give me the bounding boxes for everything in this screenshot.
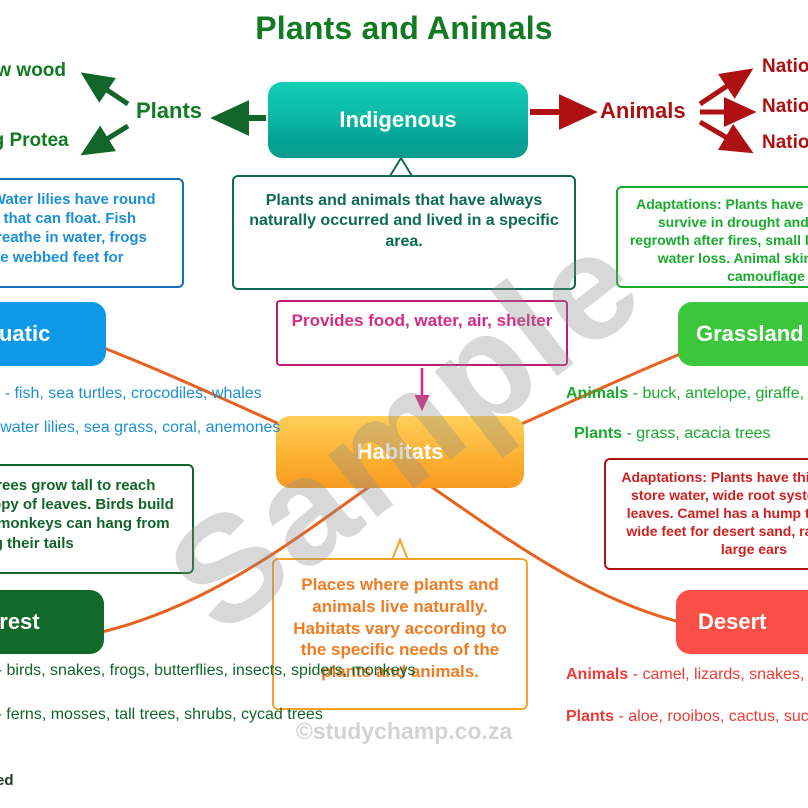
branch-label-plants[interactable]: Plants: [136, 98, 202, 124]
indigenous-definition-box: Plants and animals that have always natu…: [232, 175, 576, 290]
grassland-plants-sep: -: [626, 425, 636, 442]
aquatic-plants-list: water lilies, sea grass, coral, anemones: [0, 419, 280, 436]
animal-example-1: National animal: [762, 56, 808, 78]
node-desert-label: Desert: [698, 609, 766, 635]
node-indigenous[interactable]: Indigenous: [268, 82, 528, 158]
plant-example-kingprotea: King Protea: [0, 130, 69, 152]
aquatic-plants-line: Plants - water lilies, sea grass, coral,…: [0, 419, 280, 437]
aquatic-adaptations-text: Water lilies have round and flat leaves …: [0, 191, 156, 285]
provides-text: Provides food, water, air, shelter: [292, 311, 553, 330]
aquatic-adaptations-box: Adaptations: Water lilies have round and…: [0, 178, 184, 288]
animal-example-2: National bird: [762, 96, 808, 118]
aquatic-animals-list: fish, sea turtles, crocodiles, whales: [14, 385, 261, 402]
node-habitats[interactable]: Habitats: [276, 416, 524, 488]
grassland-plants-list: grass, acacia trees: [636, 425, 770, 442]
desert-animals-list: camel, lizards, snakes, scorpions: [642, 666, 808, 683]
grassland-adaptations-label: Adaptations:: [636, 196, 722, 212]
forest-animals-line: Animals - birds, snakes, frogs, butterfl…: [0, 662, 416, 680]
copyright-watermark: ©studychamp.co.za: [0, 718, 808, 745]
node-aquatic-label: Aquatic: [0, 321, 50, 347]
grassland-adaptations-box: Adaptations: Plants have deep roots to s…: [616, 186, 808, 288]
provides-box: Provides food, water, air, shelter: [276, 300, 568, 366]
node-grassland-label: Grassland: [696, 321, 804, 347]
node-indigenous-label: Indigenous: [339, 107, 456, 133]
node-forest[interactable]: Forest: [0, 590, 104, 654]
plant-example-yellowwood: Yellow wood: [0, 60, 66, 82]
grassland-animals-line: Animals - buck, antelope, giraffe, zebra: [566, 385, 808, 403]
page-title: Plants and Animals: [0, 10, 808, 47]
node-habitats-label: Habitats: [357, 439, 444, 465]
branch-label-animals[interactable]: Animals: [600, 98, 686, 124]
grassland-animals-list: buck, antelope, giraffe, zebra: [642, 385, 808, 402]
desert-animals-line: Animals - camel, lizards, snakes, scorpi…: [566, 666, 808, 684]
aquatic-animals-line: Animals - fish, sea turtles, crocodiles,…: [0, 385, 262, 403]
indigenous-definition-text: Plants and animals that have always natu…: [249, 192, 558, 250]
desert-animals-label: Animals: [566, 666, 628, 683]
desert-adaptations-label: Adaptations:: [621, 469, 707, 485]
grassland-animals-label: Animals: [566, 385, 628, 402]
node-aquatic[interactable]: Aquatic: [0, 302, 106, 366]
grassland-plants-label: Plants: [574, 425, 622, 442]
forest-animals-list: birds, snakes, frogs, butterflies, insec…: [6, 662, 415, 679]
forest-adaptations-text: Trees grow tall to reach above the canop…: [0, 477, 174, 552]
habitats-definition-box: Places where plants and animals live nat…: [272, 558, 528, 710]
animal-example-3: National fish: [762, 132, 808, 154]
mindmap-canvas: Plants and Animals Indigenous Plants and…: [0, 0, 808, 808]
grassland-plants-line: Plants - grass, acacia trees: [574, 425, 771, 443]
node-forest-label: Forest: [0, 609, 40, 635]
node-desert[interactable]: Desert: [676, 590, 808, 654]
corner-text-fragment: ed: [0, 772, 14, 789]
node-grassland[interactable]: Grassland: [678, 302, 808, 366]
desert-adaptations-box: Adaptations: Plants have thick stems to …: [604, 458, 808, 570]
forest-adaptations-box: Adaptations: Trees grow tall to reach ab…: [0, 464, 194, 574]
